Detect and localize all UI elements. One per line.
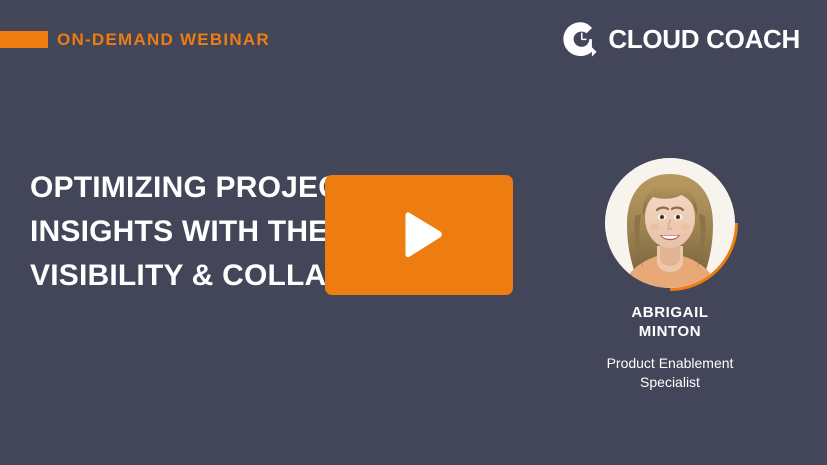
speaker-name-line-1: ABRIGAIL	[578, 303, 762, 322]
webinar-slide: ON-DEMAND WEBINAR CLOUD COACH OPTIMIZING…	[0, 0, 827, 465]
speaker-portrait-avatar	[605, 158, 735, 288]
eyebrow-accent-bar	[0, 31, 48, 48]
speaker-role-line-2: Specialist	[578, 373, 762, 392]
brand-logo[interactable]: CLOUD COACH	[561, 19, 800, 59]
brand-wordmark: CLOUD COACH	[608, 26, 800, 52]
speaker-role: Product Enablement Specialist	[578, 354, 762, 392]
speaker-name-line-2: MINTON	[578, 322, 762, 341]
speaker-photo	[605, 158, 735, 288]
avatar	[602, 155, 738, 291]
cloud-coach-c-clock-icon	[561, 20, 599, 58]
play-triangle-icon	[400, 212, 444, 258]
speaker-block: ABRIGAIL MINTON Product Enablement Speci…	[578, 155, 762, 392]
play-video-button[interactable]	[325, 175, 513, 295]
speaker-role-line-1: Product Enablement	[578, 354, 762, 373]
speaker-name: ABRIGAIL MINTON	[578, 303, 762, 341]
eyebrow-label: ON-DEMAND WEBINAR	[57, 31, 270, 48]
eyebrow-banner: ON-DEMAND WEBINAR	[0, 28, 270, 50]
